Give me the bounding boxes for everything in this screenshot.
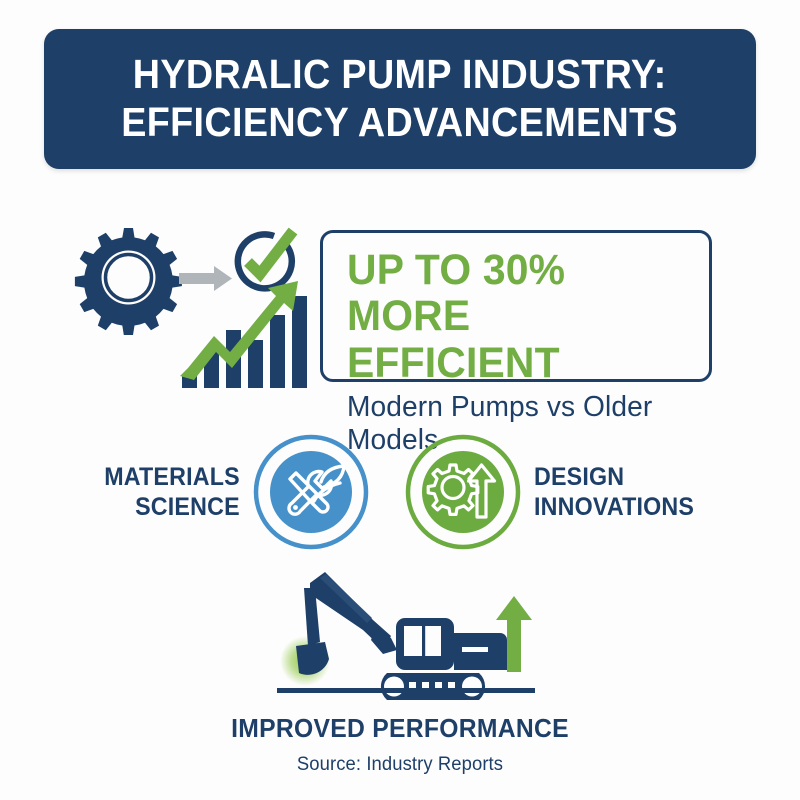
callout-value-line1: UP TO 30% — [347, 247, 691, 293]
infographic-canvas: HYDRALIC PUMP INDUSTRY: EFFICIENCY ADVAN… — [0, 0, 800, 800]
efficiency-icon-cluster — [62, 218, 312, 393]
excavator-icon — [263, 560, 553, 708]
ground-line — [277, 688, 535, 693]
footer-heading: IMPROVED PERFORMANCE — [20, 713, 780, 744]
header-band: HYDRALIC PUMP INDUSTRY: EFFICIENCY ADVAN… — [44, 29, 756, 169]
footer-source: Source: Industry Reports — [12, 754, 788, 776]
page-title: HYDRALIC PUMP INDUSTRY: EFFICIENCY ADVAN… — [122, 51, 679, 146]
pillar-label-materials-science: MATERIALS SCIENCE — [104, 462, 240, 522]
gear-uparrow-icon — [404, 433, 522, 551]
gear-icon — [75, 228, 182, 335]
check-circle-icon — [238, 231, 293, 288]
excavator-scene — [263, 560, 553, 708]
efficiency-callout-box: UP TO 30% MORE EFFICIENT Modern Pumps vs… — [320, 230, 712, 382]
wrench-leaf-icon — [252, 433, 370, 551]
growth-bar-chart-icon — [180, 281, 307, 388]
efficiency-icon-group — [62, 218, 312, 393]
pillar-design-innovations[interactable]: DESIGN INNOVATIONS — [404, 433, 706, 551]
pillar-label-design-innovations: DESIGN INNOVATIONS — [534, 462, 694, 522]
pillars-row: MATERIALS SCIENCE — [0, 428, 800, 556]
excavator-body — [296, 572, 507, 700]
pillar-materials-science[interactable]: MATERIALS SCIENCE — [94, 433, 370, 551]
right-arrow-icon — [179, 266, 232, 291]
callout-value-line2: MORE EFFICIENT — [347, 293, 691, 386]
